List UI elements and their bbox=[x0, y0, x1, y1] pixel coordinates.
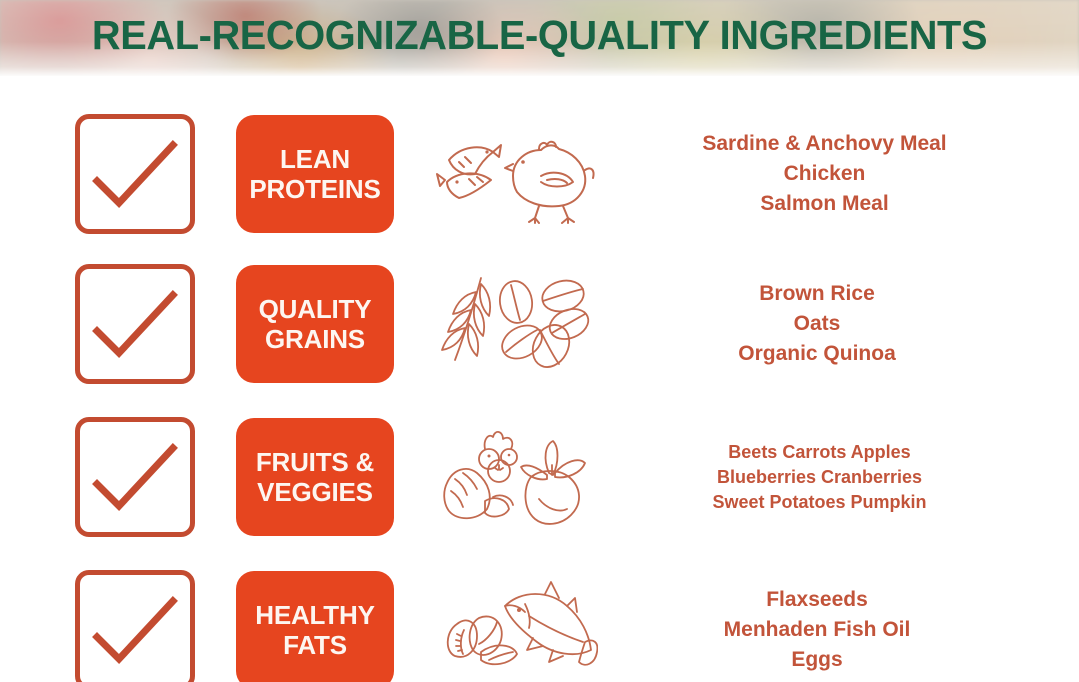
checkbox-quality-grains[interactable] bbox=[75, 264, 195, 384]
icon-cell bbox=[415, 580, 615, 680]
ingredient-line: Eggs bbox=[791, 645, 842, 675]
carrot-berries-beet-icon bbox=[435, 425, 595, 530]
checkbox-cell bbox=[0, 264, 215, 384]
header-banner: REAL-RECOGNIZABLE-QUALITY INGREDIENTS bbox=[0, 0, 1079, 76]
icon-cell bbox=[415, 274, 615, 374]
icon-cell bbox=[415, 425, 615, 530]
checkbox-lean-proteins[interactable] bbox=[75, 114, 195, 234]
ingredient-rows: LEAN PROTEINS bbox=[0, 76, 1079, 682]
badge-line-1: LEAN bbox=[280, 144, 350, 174]
badge-healthy-fats[interactable]: HEALTHY FATS bbox=[236, 571, 394, 682]
badge-cell: FRUITS & VEGGIES bbox=[215, 418, 415, 536]
ingredient-line: Chicken bbox=[784, 159, 866, 189]
badge-cell: QUALITY GRAINS bbox=[215, 265, 415, 383]
badge-line-2: PROTEINS bbox=[249, 174, 380, 204]
badge-quality-grains[interactable]: QUALITY GRAINS bbox=[236, 265, 394, 383]
checkbox-cell bbox=[0, 114, 215, 234]
ingredient-row-fruits-veggies: FRUITS & VEGGIES bbox=[0, 401, 1079, 553]
ingredient-line: Flaxseeds bbox=[766, 585, 868, 615]
checkbox-fruits-veggies[interactable] bbox=[75, 417, 195, 537]
ingredients-infographic: REAL-RECOGNIZABLE-QUALITY INGREDIENTS LE… bbox=[0, 0, 1079, 682]
ingredient-row-healthy-fats: HEALTHY FATS bbox=[0, 554, 1079, 682]
ingredient-line: Oats bbox=[794, 309, 841, 339]
checkbox-healthy-fats[interactable] bbox=[75, 570, 195, 682]
checkbox-cell bbox=[0, 417, 215, 537]
badge-line-2: VEGGIES bbox=[257, 477, 373, 507]
ingredient-text-cell: Flaxseeds Menhaden Fish Oil Eggs bbox=[615, 585, 1079, 675]
checkmark-icon bbox=[80, 119, 190, 229]
ingredient-line: Menhaden Fish Oil bbox=[724, 615, 911, 645]
ingredient-text-cell: Brown Rice Oats Organic Quinoa bbox=[615, 279, 1079, 369]
icon-cell bbox=[415, 124, 615, 224]
ingredient-text-cell: Sardine & Anchovy Meal Chicken Salmon Me… bbox=[615, 129, 1079, 219]
page-title: REAL-RECOGNIZABLE-QUALITY INGREDIENTS bbox=[16, 8, 1063, 62]
badge-fruits-veggies[interactable]: FRUITS & VEGGIES bbox=[236, 418, 394, 536]
badge-line-1: QUALITY bbox=[259, 294, 372, 324]
ingredient-line: Brown Rice bbox=[759, 279, 875, 309]
checkbox-cell bbox=[0, 570, 215, 682]
badge-cell: LEAN PROTEINS bbox=[215, 115, 415, 233]
ingredient-line: Blueberries Cranberries bbox=[717, 465, 922, 490]
checkmark-icon bbox=[80, 575, 190, 682]
badge-lean-proteins[interactable]: LEAN PROTEINS bbox=[236, 115, 394, 233]
seeds-and-fish-icon bbox=[433, 580, 598, 680]
wheat-and-grains-icon bbox=[435, 274, 595, 374]
fish-and-chicken-icon bbox=[435, 124, 595, 224]
badge-line-2: FATS bbox=[283, 630, 347, 660]
ingredient-line: Salmon Meal bbox=[760, 189, 888, 219]
ingredient-line: Beets Carrots Apples bbox=[728, 440, 910, 465]
badge-cell: HEALTHY FATS bbox=[215, 571, 415, 682]
ingredient-line: Organic Quinoa bbox=[738, 339, 896, 369]
ingredient-row-lean-proteins: LEAN PROTEINS bbox=[0, 98, 1079, 250]
badge-line-2: GRAINS bbox=[265, 324, 365, 354]
ingredient-line: Sweet Potatoes Pumpkin bbox=[712, 490, 926, 515]
ingredient-line: Sardine & Anchovy Meal bbox=[702, 129, 946, 159]
checkmark-icon bbox=[80, 422, 190, 532]
badge-line-1: FRUITS & bbox=[256, 447, 374, 477]
ingredient-text-cell: Beets Carrots Apples Blueberries Cranber… bbox=[615, 440, 1079, 515]
ingredient-row-quality-grains: QUALITY GRAINS bbox=[0, 248, 1079, 400]
badge-line-1: HEALTHY bbox=[255, 600, 374, 630]
checkmark-icon bbox=[80, 269, 190, 379]
